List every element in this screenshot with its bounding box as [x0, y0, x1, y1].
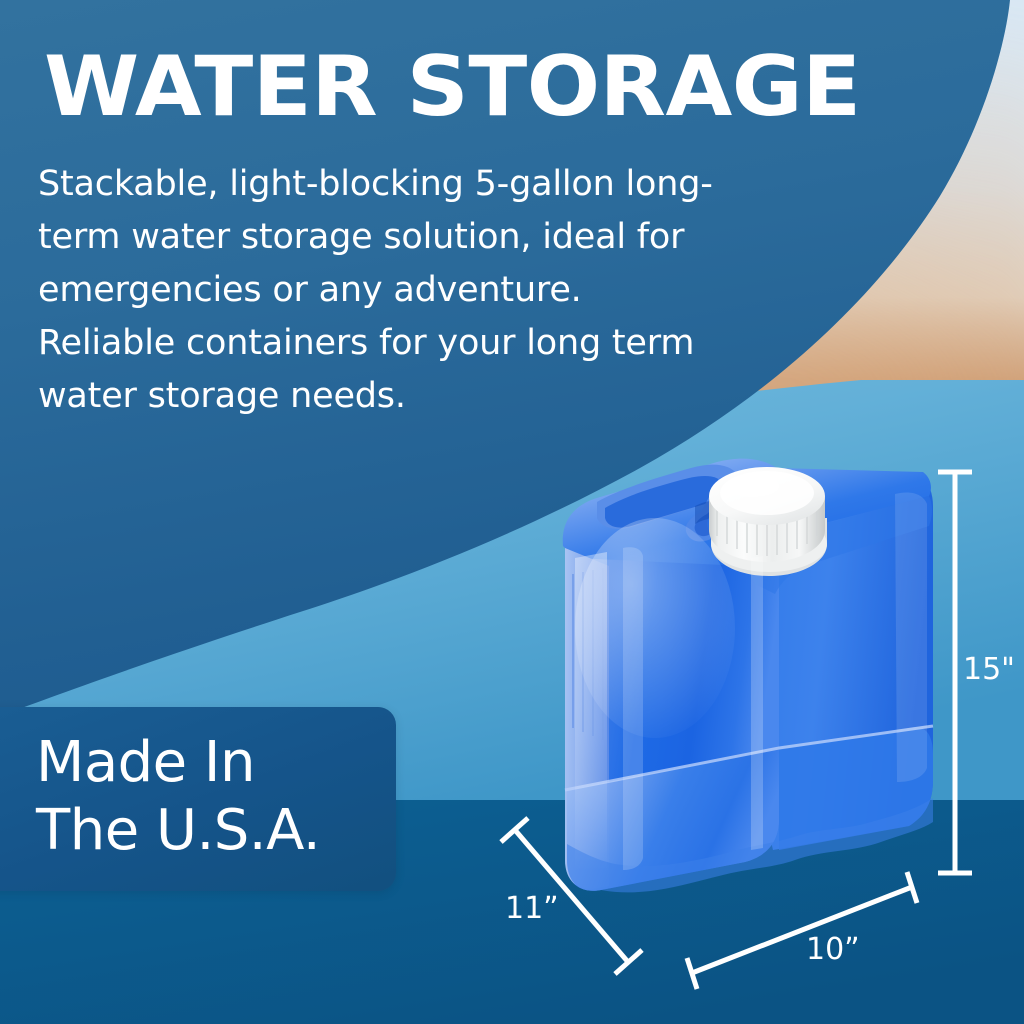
dim-line-width [692, 887, 912, 973]
description-line: water storage needs. [38, 370, 768, 423]
description-line: Reliable containers for your long term [38, 317, 768, 370]
description-block: Stackable, light-blocking 5-gallon long-… [38, 158, 768, 423]
made-in-usa-label: Made In The U.S.A. [36, 729, 320, 865]
description-line: term water storage solution, ideal for [38, 211, 768, 264]
description-line: emergencies or any adventure. [38, 264, 768, 317]
made-in-usa-badge: Made In The U.S.A. [0, 707, 396, 891]
description-line: Stackable, light-blocking 5-gallon long- [38, 158, 768, 211]
page-title: WATER STORAGE [44, 45, 959, 129]
dimension-label-width: 10” [806, 932, 860, 967]
dimension-label-depth: 11” [505, 891, 559, 926]
infographic-canvas: 15" 11” 10” WATER STORAGE Stackable, lig… [0, 0, 1024, 1024]
dimension-label-height: 15" [963, 652, 1015, 687]
